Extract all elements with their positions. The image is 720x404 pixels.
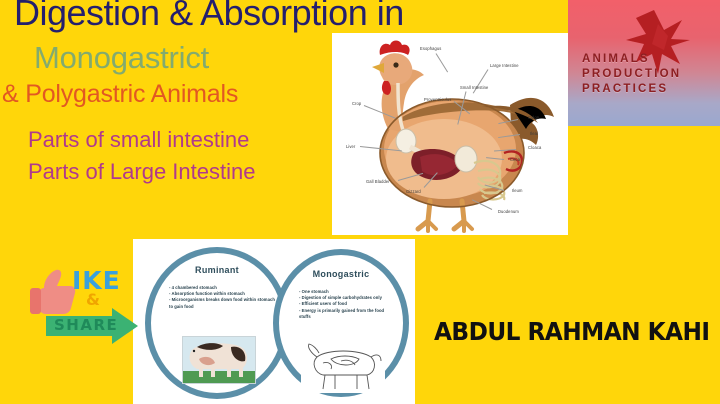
chicken-label-large-intestine: Large Intestine	[490, 63, 519, 68]
chicken-label-gall-bladder: Gall Bladder	[366, 179, 390, 184]
chicken-label-ileal: Ileal	[530, 131, 538, 136]
chicken-anatomy-diagram: EsophagusLarge IntestineSmall IntestineP…	[332, 33, 568, 235]
monogastric-bullets: - One stomach - Digestion of simple carb…	[299, 289, 395, 320]
logo-line-1: ANIMALS	[582, 52, 681, 67]
page-title: Digestion & Absorption in	[14, 0, 404, 32]
cow-image	[182, 336, 256, 384]
chicken-label-proventriculus: Proventriculus	[424, 97, 451, 102]
ruminant-circle: Ruminant - 4 chambered stomach - Absorpt…	[145, 247, 289, 399]
ruminant-title: Ruminant	[151, 265, 283, 275]
author-name: ABDUL RAHMAN KAHI	[434, 317, 709, 346]
cow-illustration	[183, 337, 255, 383]
topic-large-intestine: Parts of Large Intestine	[28, 159, 255, 185]
ruminant-bullets: - 4 chambered stomach - Absorption funct…	[169, 285, 277, 310]
horse-image	[301, 341, 385, 393]
brand-logo-text: ANIMALS PRODUCTION PRACTICES	[582, 52, 681, 97]
subtitle-monogastric: Monogastrict	[34, 40, 209, 76]
ampersand-text: &	[86, 290, 100, 309]
logo-line-3: PRACTICES	[582, 82, 681, 97]
monogastric-circle: Monogastric - One stomach - Digestion of…	[273, 249, 409, 397]
chicken-label-colon: Colon	[528, 115, 539, 120]
ruminant-monogastric-comparison: Ruminant - 4 chambered stomach - Absorpt…	[133, 239, 415, 404]
subtitle-polygastric: & Polygastric Animals	[2, 80, 238, 109]
chicken-label-small-intestine: Small Intestine	[460, 85, 488, 90]
topic-small-intestine: Parts of small intestine	[28, 127, 249, 153]
chicken-label-cloaca: Cloaca	[528, 145, 541, 150]
slide-canvas: Digestion & Absorption in Monogastrict &…	[0, 0, 720, 404]
logo-line-2: PRODUCTION	[582, 67, 681, 82]
monogastric-bullet-3: - Energy is primarily gained from the fo…	[299, 308, 395, 320]
brand-logo-panel: ANIMALS PRODUCTION PRACTICES	[568, 0, 720, 126]
horse-line-drawing	[301, 341, 385, 393]
share-text: SHARE	[54, 316, 118, 334]
chicken-label-crop: Crop	[352, 101, 361, 106]
chicken-label-gizzard: Gizzard	[406, 189, 421, 194]
chicken-label-esophagus: Esophagus	[420, 46, 441, 51]
chicken-label-ileum: Ileum	[512, 188, 523, 193]
chicken-label-ceca: Ceca	[510, 157, 520, 162]
ruminant-bullet-2: - Microorganisms breaks down food within…	[169, 297, 277, 309]
chicken-label-liver: Liver	[346, 144, 355, 149]
like-and-share-graphic[interactable]: IKE & SHARE	[28, 258, 140, 354]
monogastric-title: Monogastric	[279, 269, 403, 279]
chicken-label-duodenum: Duodenum	[498, 209, 519, 214]
